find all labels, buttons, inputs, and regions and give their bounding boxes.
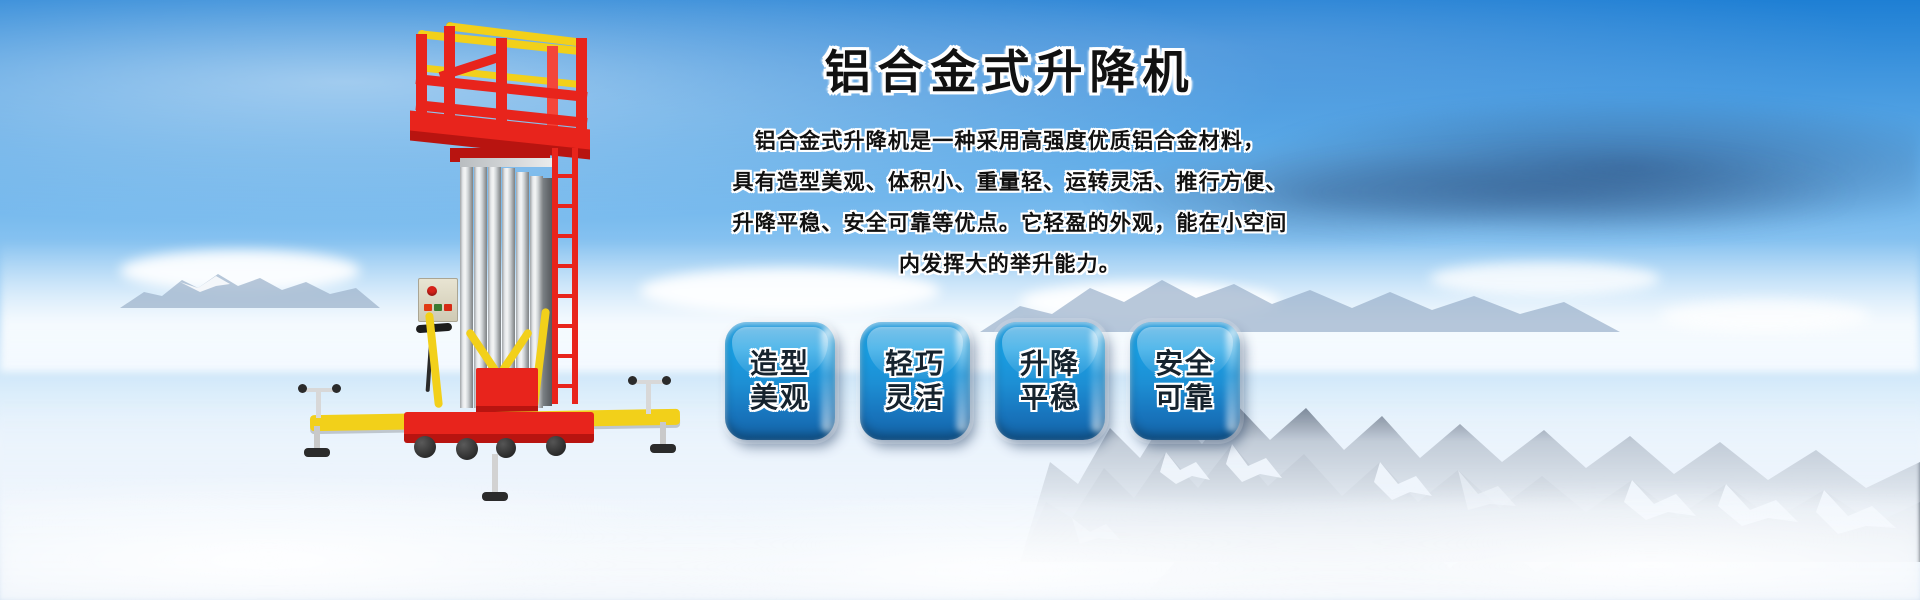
description-line: 升降平稳、安全可靠等优点。它轻盈的外观，能在小空间 [730,203,1290,244]
ladder-rung [552,174,578,178]
ladder-rung [552,294,578,298]
ladder-rung [552,384,578,388]
description-line: 铝合金式升降机是一种采用高强度优质铝合金材料， [730,121,1290,162]
description-line: 具有造型美观、体积小、重量轻、运转灵活、推行方便、 [730,162,1290,203]
wheel-rear-right [546,436,566,456]
page-title: 铝合金式升降机 [730,46,1290,99]
badge-line-2: 可靠 [1155,381,1215,415]
description-line: 内发挥大的举升能力。 [730,244,1290,285]
feature-badge-design[interactable]: 造型 美观 [725,322,835,440]
outrigger-foot-center [492,454,498,496]
stabilizer-knob-a [298,384,307,393]
stabilizer-knob-c [628,376,637,385]
product-image-aluminum-lift [300,8,700,488]
cloud-puff [1020,282,1280,322]
wheel-front-right [456,438,478,460]
ladder-rail-right [572,148,578,404]
ladder-rung [552,324,578,328]
mast-step-detail [460,158,552,167]
product-description: 铝合金式升降机是一种采用高强度优质铝合金材料， 具有造型美观、体积小、重量轻、运… [730,121,1290,285]
control-box-button-red [427,286,437,296]
stabilizer-post-left [316,388,321,418]
sea-of-clouds-highlights [0,468,1920,600]
ladder-rung [552,354,578,358]
control-box [418,278,458,322]
mast-shadow [543,178,552,406]
control-box-switch-b [434,304,442,311]
wheel-front-left [414,436,436,458]
badge-line-2: 灵活 [885,381,945,415]
ladder-rail-left [552,148,558,404]
badge-line-1: 安全 [1155,347,1215,381]
feature-badge-list: 造型 美观 轻巧 灵活 升降 平稳 安全 可靠 [725,322,1240,440]
banner-text-block: 铝合金式升降机 铝合金式升降机是一种采用高强度优质铝合金材料， 具有造型美观、体… [730,46,1290,285]
wheel-rear-left [496,438,516,458]
badge-line-1: 造型 [750,347,810,381]
outrigger-pad-left [304,448,330,457]
control-box-switch-c [444,304,452,311]
outrigger-pad-center [482,492,508,501]
ladder-rung [552,264,578,268]
product-banner: 铝合金式升降机 铝合金式升降机是一种采用高强度优质铝合金材料， 具有造型美观、体… [0,0,1920,600]
feature-badge-lightweight[interactable]: 轻巧 灵活 [860,322,970,440]
mast-column-1 [460,158,473,408]
stabilizer-knob-d [662,376,671,385]
ladder-rung [552,234,578,238]
stabilizer-post-right [646,380,651,414]
badge-line-2: 美观 [750,381,810,415]
mountain-foreground-center [1150,460,1570,590]
badge-line-1: 升降 [1020,347,1080,381]
feature-badge-smooth-lift[interactable]: 升降 平稳 [995,322,1105,440]
outrigger-pad-right [650,444,676,453]
cloud-puff [1430,262,1660,296]
cloud-puff [1660,300,1870,332]
stabilizer-knob-b [332,384,341,393]
control-box-switch-a [424,304,432,311]
ladder-rung [552,204,578,208]
feature-badge-safety[interactable]: 安全 可靠 [1130,322,1240,440]
badge-line-2: 平稳 [1020,381,1080,415]
badge-line-1: 轻巧 [885,347,945,381]
